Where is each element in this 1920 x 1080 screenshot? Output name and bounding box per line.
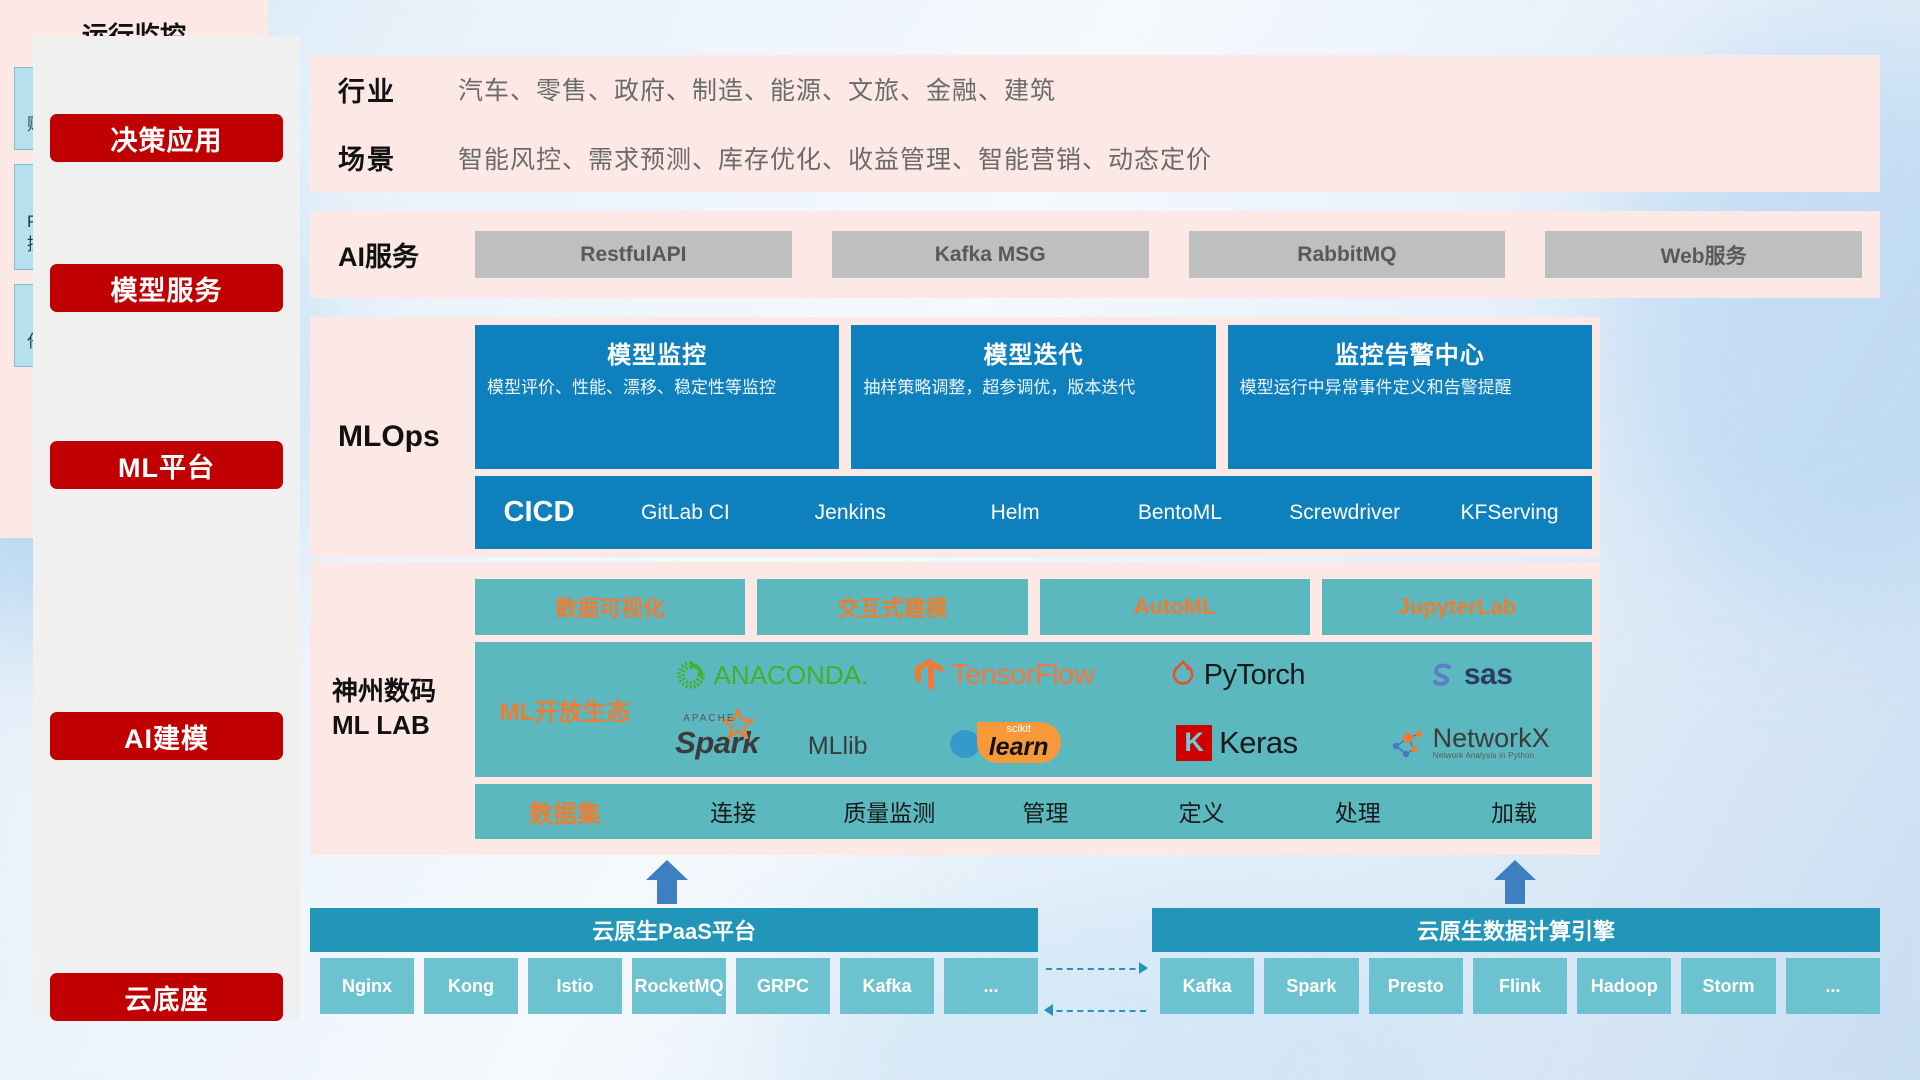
ml-lab-tool-list: 数据可视化 交互式建模 AutoML JupyterLab bbox=[475, 579, 1592, 635]
ai-service-chip-restfulapi[interactable]: RestfulAPI bbox=[475, 231, 792, 278]
keras-badge-icon: K bbox=[1176, 725, 1212, 761]
mlops-card-list: 模型监控 模型评价、性能、漂移、稳定性等监控 模型迭代 抽样策略调整，超参调优，… bbox=[475, 325, 1592, 469]
cloud-paas-header: 云原生PaaS平台 bbox=[310, 908, 1038, 952]
industry-value: 汽车、零售、政府、制造、能源、文旅、金融、建筑 bbox=[458, 71, 1056, 107]
anaconda-logo: ANACONDA. bbox=[675, 659, 869, 691]
pytorch-logo: PyTorch bbox=[1169, 659, 1305, 692]
networkx-logo: NetworkX Network Analysis in Python bbox=[1390, 725, 1550, 760]
cicd-item-screwdriver[interactable]: Screwdriver bbox=[1262, 502, 1427, 523]
ml-lab-label-line1: 神州数码 bbox=[332, 675, 475, 709]
dashed-link-right bbox=[1046, 962, 1146, 964]
dataset-band: 数据集 连接 质量监测 管理 定义 处理 加载 bbox=[475, 784, 1592, 839]
spark-mllib-logo: APACHE Spark MLlib bbox=[675, 725, 867, 761]
data-chip-flink[interactable]: Flink bbox=[1473, 958, 1567, 1014]
scikit-logo-text: learn bbox=[989, 735, 1049, 760]
ai-service-label: AI服务 bbox=[310, 235, 475, 274]
dataset-item-define[interactable]: 定义 bbox=[1124, 794, 1280, 828]
data-chip-storm[interactable]: Storm bbox=[1681, 958, 1775, 1014]
sas-logo-text: sas bbox=[1464, 658, 1513, 692]
anaconda-logo-text: ANACONDA. bbox=[714, 660, 869, 691]
pytorch-logo-text: PyTorch bbox=[1204, 659, 1305, 692]
dashed-line bbox=[1046, 1010, 1146, 1012]
scenario-label: 场景 bbox=[338, 138, 458, 177]
ai-service-chip-web-service[interactable]: Web服务 bbox=[1545, 231, 1862, 278]
ml-lab-label: 神州数码 ML LAB bbox=[310, 675, 475, 743]
ml-lab-content: 数据可视化 交互式建模 AutoML JupyterLab ML开放生态 ANA… bbox=[475, 562, 1600, 855]
dataset-item-process[interactable]: 处理 bbox=[1280, 794, 1436, 828]
anaconda-mark-icon bbox=[675, 659, 707, 691]
pytorch-mark-icon bbox=[1169, 659, 1197, 691]
data-chip-spark[interactable]: Spark bbox=[1264, 958, 1358, 1014]
dashed-arrow-right-icon bbox=[1139, 962, 1148, 974]
tensorflow-logo: TensorFlow bbox=[914, 658, 1094, 692]
data-chip-presto[interactable]: Presto bbox=[1369, 958, 1463, 1014]
layer-chip-decision-app[interactable]: 决策应用 bbox=[50, 114, 283, 162]
cicd-item-jenkins[interactable]: Jenkins bbox=[768, 502, 933, 523]
cicd-item-gitlab-ci[interactable]: GitLab CI bbox=[603, 502, 768, 523]
ml-ecosystem-logo-grid: ANACONDA. TensorFlow bbox=[655, 642, 1592, 777]
paas-chip-kafka[interactable]: Kafka bbox=[840, 958, 934, 1014]
layer-chip-model-service[interactable]: 模型服务 bbox=[50, 264, 283, 312]
tensorflow-mark-icon bbox=[914, 658, 944, 692]
ai-service-chip-kafka-msg[interactable]: Kafka MSG bbox=[832, 231, 1149, 278]
dashed-link-left bbox=[1046, 1004, 1146, 1006]
scenario-value: 智能风控、需求预测、库存优化、收益管理、智能营销、动态定价 bbox=[458, 140, 1212, 176]
keras-logo-text: Keras bbox=[1219, 725, 1297, 761]
dataset-item-quality-monitoring[interactable]: 质量监测 bbox=[811, 794, 967, 828]
industry-row: 行业 汽车、零售、政府、制造、能源、文旅、金融、建筑 bbox=[310, 55, 1880, 124]
lab-tool-jupyterlab[interactable]: JupyterLab bbox=[1322, 579, 1592, 635]
up-arrow-data-engine-icon bbox=[1492, 858, 1538, 904]
mlops-card-desc: 抽样策略调整，超参调优，版本迭代 bbox=[863, 377, 1203, 400]
spark-apache-text: APACHE bbox=[683, 713, 735, 724]
dataset-item-list: 连接 质量监测 管理 定义 处理 加载 bbox=[655, 794, 1592, 828]
paas-chip-grpc[interactable]: GRPC bbox=[736, 958, 830, 1014]
mlops-content: 模型监控 模型评价、性能、漂移、稳定性等监控 模型迭代 抽样策略调整，超参调优，… bbox=[475, 317, 1600, 557]
mlops-card-desc: 模型评价、性能、漂移、稳定性等监控 bbox=[487, 377, 827, 400]
paas-chip-istio[interactable]: Istio bbox=[528, 958, 622, 1014]
mlops-label: MLOps bbox=[310, 420, 475, 454]
sas-logo: sas bbox=[1427, 658, 1513, 692]
mlops-card-model-iteration[interactable]: 模型迭代 抽样策略调整，超参调优，版本迭代 bbox=[851, 325, 1215, 469]
layer-chip-ai-modeling[interactable]: AI建模 bbox=[50, 712, 283, 760]
dashed-line bbox=[1046, 968, 1146, 970]
cicd-item-helm[interactable]: Helm bbox=[933, 502, 1098, 523]
ai-service-chip-list: RestfulAPI Kafka MSG RabbitMQ Web服务 bbox=[475, 231, 1880, 278]
paas-chip-rocketmq[interactable]: RocketMQ bbox=[632, 958, 726, 1014]
tensorflow-logo-text: TensorFlow bbox=[951, 659, 1094, 692]
mlops-card-title: 模型迭代 bbox=[863, 335, 1203, 370]
mlops-card-model-monitoring[interactable]: 模型监控 模型评价、性能、漂移、稳定性等监控 bbox=[475, 325, 839, 469]
data-chip-more[interactable]: ... bbox=[1786, 958, 1880, 1014]
up-arrow-paas-icon bbox=[644, 858, 690, 904]
scikit-orange-blob: scikit learn bbox=[977, 722, 1061, 763]
dataset-item-connect[interactable]: 连接 bbox=[655, 794, 811, 828]
cicd-bar: CICD GitLab CI Jenkins Helm BentoML Scre… bbox=[475, 476, 1592, 549]
lab-tool-automl[interactable]: AutoML bbox=[1040, 579, 1310, 635]
sas-mark-icon bbox=[1427, 660, 1457, 690]
ml-ecosystem-band: ML开放生态 ANACONDA. Ten bbox=[475, 642, 1592, 777]
scikit-learn-logo: scikit learn bbox=[948, 722, 1061, 763]
architecture-diagram: 决策应用 模型服务 ML平台 AI建模 云底座 行业 汽车、零售、政府、制造、能… bbox=[0, 0, 1920, 1080]
cicd-title: CICD bbox=[475, 496, 603, 529]
ml-ecosystem-label: ML开放生态 bbox=[475, 692, 655, 727]
mllib-logo-text: MLlib bbox=[808, 732, 868, 761]
paas-chip-more[interactable]: ... bbox=[944, 958, 1038, 1014]
networkx-logo-text: NetworkX bbox=[1433, 725, 1550, 752]
dataset-item-manage[interactable]: 管理 bbox=[967, 794, 1123, 828]
dataset-label: 数据集 bbox=[475, 794, 655, 829]
dataset-item-load[interactable]: 加载 bbox=[1436, 794, 1592, 828]
cloud-data-engine-header: 云原生数据计算引擎 bbox=[1152, 908, 1880, 952]
ai-service-chip-rabbitmq[interactable]: RabbitMQ bbox=[1189, 231, 1506, 278]
ml-lab-label-line2: ML LAB bbox=[332, 709, 475, 743]
cicd-item-list: GitLab CI Jenkins Helm BentoML Screwdriv… bbox=[603, 502, 1592, 523]
scenario-row: 场景 智能风控、需求预测、库存优化、收益管理、智能营销、动态定价 bbox=[310, 124, 1880, 193]
layer-rail: 决策应用 模型服务 ML平台 AI建模 云底座 bbox=[33, 36, 300, 1021]
dashed-arrow-left-icon bbox=[1044, 1004, 1053, 1016]
data-engine-chip-list: Kafka Spark Presto Flink Hadoop Storm ..… bbox=[1160, 958, 1880, 1014]
industry-scenario-panel: 行业 汽车、零售、政府、制造、能源、文旅、金融、建筑 场景 智能风控、需求预测、… bbox=[310, 55, 1880, 192]
mlops-panel: MLOps 模型监控 模型评价、性能、漂移、稳定性等监控 模型迭代 抽样策略调整… bbox=[310, 317, 1600, 557]
mlops-card-title: 监控告警中心 bbox=[1240, 335, 1580, 370]
data-chip-hadoop[interactable]: Hadoop bbox=[1577, 958, 1671, 1014]
data-chip-kafka[interactable]: Kafka bbox=[1160, 958, 1254, 1014]
cicd-item-bentoml[interactable]: BentoML bbox=[1097, 502, 1262, 523]
ai-service-panel: AI服务 RestfulAPI Kafka MSG RabbitMQ Web服务 bbox=[310, 211, 1880, 298]
mlops-card-desc: 模型运行中异常事件定义和告警提醒 bbox=[1240, 377, 1580, 400]
mlops-card-title: 模型监控 bbox=[487, 335, 827, 370]
networkx-logo-subtext: Network Analysis in Python bbox=[1433, 752, 1550, 760]
layer-chip-cloud-base[interactable]: 云底座 bbox=[50, 973, 283, 1021]
cicd-item-kfserving[interactable]: KFServing bbox=[1427, 502, 1592, 523]
keras-logo: K Keras bbox=[1176, 725, 1297, 761]
networkx-graph-icon bbox=[1390, 726, 1426, 760]
paas-chip-list: Nginx Kong Istio RocketMQ GRPC Kafka ... bbox=[320, 958, 1038, 1014]
ml-lab-panel: 神州数码 ML LAB 数据可视化 交互式建模 AutoML JupyterLa… bbox=[310, 562, 1600, 855]
mlops-card-alert-center[interactable]: 监控告警中心 模型运行中异常事件定义和告警提醒 bbox=[1228, 325, 1592, 469]
industry-label: 行业 bbox=[338, 70, 458, 109]
layer-chip-ml-platform[interactable]: ML平台 bbox=[50, 441, 283, 489]
lab-tool-data-visualization[interactable]: 数据可视化 bbox=[475, 579, 745, 635]
paas-chip-nginx[interactable]: Nginx bbox=[320, 958, 414, 1014]
lab-tool-interactive-modeling[interactable]: 交互式建模 bbox=[757, 579, 1027, 635]
paas-chip-kong[interactable]: Kong bbox=[424, 958, 518, 1014]
